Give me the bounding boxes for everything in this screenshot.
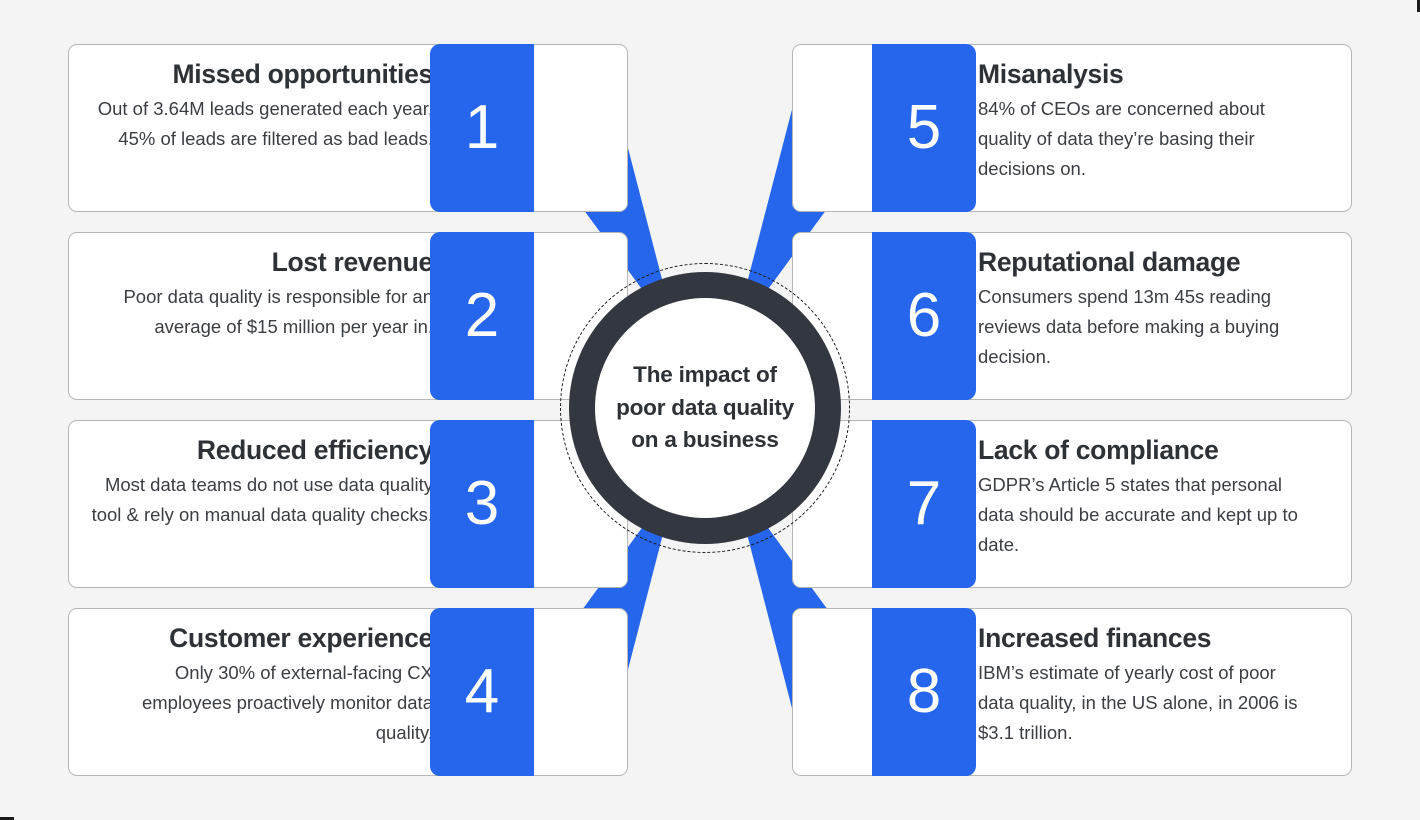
hub-title-line-2: poor data quality xyxy=(616,395,794,420)
number-badge-5: 5 xyxy=(872,44,976,212)
hub-title-line-3: on a business xyxy=(631,427,778,452)
hub-title: The impact of poor data quality on a bus… xyxy=(602,359,808,458)
card-4-body: Only 30% of external-facing CX employees… xyxy=(91,658,433,748)
number-badge-3: 3 xyxy=(430,420,534,588)
card-8-body: IBM’s estimate of yearly cost of poor da… xyxy=(978,658,1308,748)
card-6-body: Consumers spend 13m 45s reading reviews … xyxy=(978,282,1308,372)
card-2-body: Poor data quality is responsible for an … xyxy=(91,282,433,342)
card-3[interactable]: Reduced efficiency Most data teams do no… xyxy=(68,420,628,588)
number-badge-6: 6 xyxy=(872,232,976,400)
card-5-title: Misanalysis xyxy=(978,59,1308,90)
number-badge-7: 7 xyxy=(872,420,976,588)
card-2-title: Lost revenue xyxy=(91,247,433,278)
hub-title-line-1: The impact of xyxy=(633,362,777,387)
infographic-canvas: Missed opportunities Out of 3.64M leads … xyxy=(0,0,1420,820)
hub-inner-circle: The impact of poor data quality on a bus… xyxy=(595,298,815,518)
card-3-title: Reduced efficiency xyxy=(91,435,433,466)
card-8-title: Increased finances xyxy=(978,623,1308,654)
card-7-body: GDPR’s Article 5 states that personal da… xyxy=(978,470,1308,560)
card-3-body: Most data teams do not use data quality … xyxy=(91,470,433,530)
number-badge-2: 2 xyxy=(430,232,534,400)
card-1-body: Out of 3.64M leads generated each year, … xyxy=(91,94,433,154)
card-2[interactable]: Lost revenue Poor data quality is respon… xyxy=(68,232,628,400)
card-4-title: Customer experience xyxy=(91,623,433,654)
number-badge-8: 8 xyxy=(872,608,976,776)
number-badge-1: 1 xyxy=(430,44,534,212)
card-5-body: 84% of CEOs are concerned about quality … xyxy=(978,94,1308,184)
card-7-title: Lack of compliance xyxy=(978,435,1308,466)
number-badge-4: 4 xyxy=(430,608,534,776)
card-6-title: Reputational damage xyxy=(978,247,1308,278)
center-hub: The impact of poor data quality on a bus… xyxy=(560,263,850,553)
card-1-title: Missed opportunities xyxy=(91,59,433,90)
card-1[interactable]: Missed opportunities Out of 3.64M leads … xyxy=(68,44,628,212)
card-4[interactable]: Customer experience Only 30% of external… xyxy=(68,608,628,776)
